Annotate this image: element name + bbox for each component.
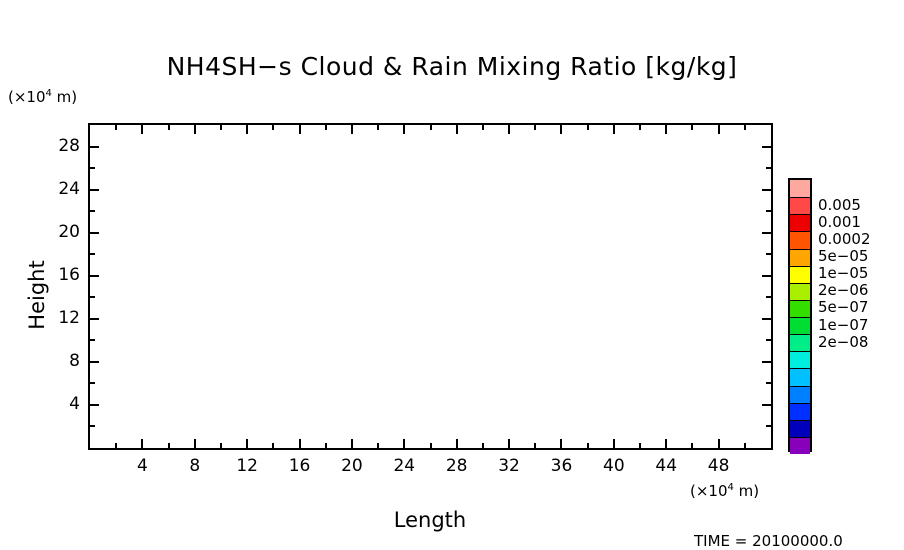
x-tick-top [325, 125, 327, 130]
colorbar-band [790, 300, 810, 317]
y-tick-label: 8 [44, 351, 80, 371]
x-tick-label: 4 [122, 456, 162, 476]
x-tick [639, 443, 641, 448]
y-tick-label: 16 [44, 265, 80, 285]
x-tick-label: 16 [280, 456, 320, 476]
y-tick [90, 425, 95, 427]
y-tick-label: 12 [44, 308, 80, 328]
y-tick-label: 24 [44, 179, 80, 199]
x-tick [115, 443, 117, 448]
colorbar-band [790, 334, 810, 351]
x-tick-top [351, 125, 353, 134]
y-tick-right [762, 318, 771, 320]
x-tick-top [377, 125, 379, 130]
y-tick-right [762, 361, 771, 363]
y-unit-tail: m) [52, 88, 77, 106]
colorbar-band [790, 197, 810, 214]
y-tick [90, 318, 99, 320]
x-tick [168, 443, 170, 448]
colorbar-label: 2e−06 [818, 281, 868, 299]
x-tick-top [115, 125, 117, 130]
x-tick [377, 443, 379, 448]
colorbar-label: 1e−05 [818, 264, 868, 282]
x-tick [456, 439, 458, 448]
x-tick-label: 48 [699, 456, 739, 476]
x-tick-label: 44 [646, 456, 686, 476]
y-tick [90, 167, 95, 169]
colorbar-band [790, 231, 810, 248]
y-tick [90, 275, 99, 277]
x-tick-label: 20 [332, 456, 372, 476]
x-unit-text: (×10 [690, 482, 728, 500]
x-tick [718, 439, 720, 448]
y-tick [90, 146, 99, 148]
y-axis-unit-label: (×104 m) [8, 88, 77, 106]
y-tick [90, 339, 95, 341]
y-tick-label: 28 [44, 136, 80, 156]
x-tick [246, 439, 248, 448]
x-tick-top [744, 125, 746, 130]
x-tick [744, 443, 746, 448]
x-tick [430, 443, 432, 448]
y-tick-right [762, 404, 771, 406]
y-tick-right [766, 425, 771, 427]
x-tick [665, 439, 667, 448]
y-tick-right [762, 189, 771, 191]
y-tick [90, 382, 95, 384]
y-tick [90, 296, 95, 298]
x-tick-top [613, 125, 615, 134]
colorbar-band [790, 420, 810, 437]
x-tick-top [430, 125, 432, 130]
x-axis-title: Length [330, 508, 530, 532]
y-unit-text: (×10 [8, 88, 46, 106]
x-tick-label: 8 [175, 456, 215, 476]
x-unit-tail: m) [734, 482, 759, 500]
x-tick-top [168, 125, 170, 130]
x-tick-top [403, 125, 405, 134]
x-tick-top [534, 125, 536, 130]
colorbar-band [790, 214, 810, 231]
y-tick-label: 20 [44, 222, 80, 242]
x-tick [299, 439, 301, 448]
timestamp-label: TIME = 20100000.0 [694, 532, 843, 550]
colorbar-band [790, 317, 810, 334]
x-tick-top [482, 125, 484, 130]
y-tick-right [766, 167, 771, 169]
page-title: NH4SH−s Cloud & Rain Mixing Ratio [kg/kg… [0, 52, 904, 81]
x-tick [691, 443, 693, 448]
x-tick [272, 443, 274, 448]
x-tick-top [246, 125, 248, 134]
y-tick-right [762, 275, 771, 277]
x-axis-unit-label: (×104 m) [690, 482, 759, 500]
x-tick [534, 443, 536, 448]
y-tick-right [762, 232, 771, 234]
x-tick [351, 439, 353, 448]
x-tick [220, 443, 222, 448]
x-tick-top [141, 125, 143, 134]
colorbar-band [790, 368, 810, 385]
colorbar [788, 178, 812, 452]
colorbar-band [790, 249, 810, 266]
x-tick-top [665, 125, 667, 134]
x-tick-top [691, 125, 693, 130]
x-tick-label: 32 [489, 456, 529, 476]
x-tick [194, 439, 196, 448]
x-tick [482, 443, 484, 448]
plot-frame [88, 123, 773, 450]
x-tick-top [560, 125, 562, 134]
x-tick-top [587, 125, 589, 130]
colorbar-label: 0.001 [818, 213, 861, 231]
colorbar-band [790, 180, 810, 197]
y-tick-right [766, 382, 771, 384]
x-tick-label: 24 [384, 456, 424, 476]
colorbar-band [790, 386, 810, 403]
x-tick-top [718, 125, 720, 134]
x-tick [560, 439, 562, 448]
colorbar-band [790, 283, 810, 300]
y-tick-right [766, 296, 771, 298]
y-tick-label: 4 [44, 394, 80, 414]
colorbar-label: 5e−05 [818, 247, 868, 265]
x-tick-top [220, 125, 222, 130]
colorbar-band [790, 437, 810, 454]
x-tick-label: 28 [437, 456, 477, 476]
y-tick [90, 253, 95, 255]
colorbar-label: 0.005 [818, 196, 861, 214]
colorbar-label: 5e−07 [818, 298, 868, 316]
y-tick-right [762, 146, 771, 148]
x-tick [141, 439, 143, 448]
y-tick [90, 404, 99, 406]
x-tick-top [639, 125, 641, 130]
y-tick [90, 361, 99, 363]
y-tick [90, 210, 95, 212]
y-tick-right [766, 253, 771, 255]
y-axis-title: Height [25, 240, 49, 350]
y-tick [90, 232, 99, 234]
x-tick [508, 439, 510, 448]
colorbar-band [790, 403, 810, 420]
y-tick [90, 189, 99, 191]
x-tick-top [272, 125, 274, 130]
colorbar-label: 2e−08 [818, 333, 868, 351]
y-tick-right [766, 210, 771, 212]
colorbar-band [790, 266, 810, 283]
x-tick [325, 443, 327, 448]
x-tick-label: 40 [594, 456, 634, 476]
x-tick-top [456, 125, 458, 134]
x-tick-top [194, 125, 196, 134]
x-tick-top [508, 125, 510, 134]
x-tick-top [299, 125, 301, 134]
colorbar-label: 0.0002 [818, 230, 871, 248]
colorbar-band [790, 351, 810, 368]
x-tick [613, 439, 615, 448]
x-tick [403, 439, 405, 448]
x-tick-label: 36 [541, 456, 581, 476]
x-tick-label: 12 [227, 456, 267, 476]
x-tick [587, 443, 589, 448]
colorbar-label: 1e−07 [818, 316, 868, 334]
y-tick-right [766, 339, 771, 341]
